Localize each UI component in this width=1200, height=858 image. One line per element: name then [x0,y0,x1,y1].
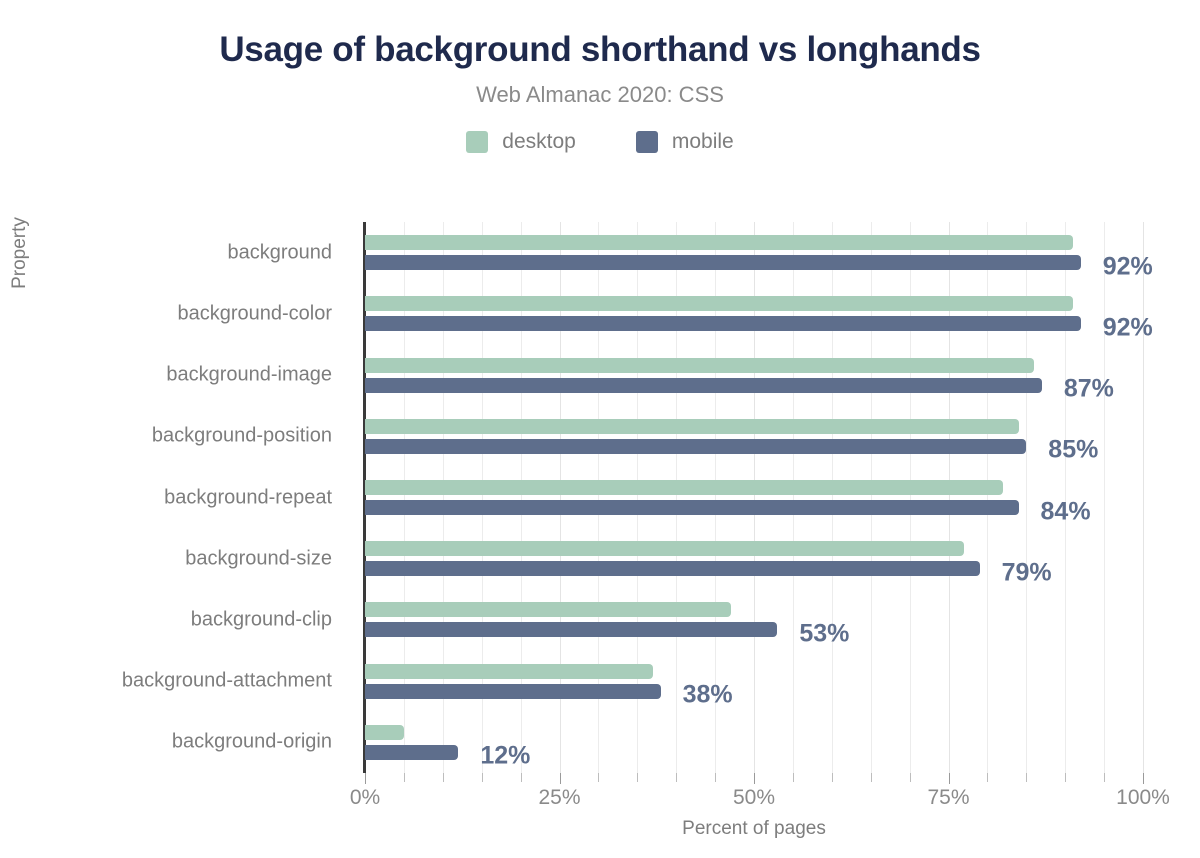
bar-series-container [365,222,1143,773]
bar-mobile-background-attachment[interactable] [365,684,661,699]
bar-mobile-background-size[interactable] [365,561,980,576]
x-tick [715,773,716,782]
x-tick [637,773,638,782]
legend-swatch-mobile [636,131,658,153]
x-tick-label-25%: 25% [538,786,580,810]
value-label-background-position: 85% [1048,436,1098,465]
bar-mobile-background-position[interactable] [365,439,1026,454]
plot-inner: 92%92%87%85%84%79%53%38%12% [365,222,1143,773]
bar-desktop-background-repeat[interactable] [365,480,1003,495]
x-tick-label-75%: 75% [927,786,969,810]
x-tick [482,773,483,782]
x-tick [560,773,561,784]
bar-desktop-background-image[interactable] [365,358,1034,373]
x-tick-label-50%: 50% [733,786,775,810]
x-tick [404,773,405,782]
chart-title: Usage of background shorthand vs longhan… [0,30,1200,70]
x-tick [1143,773,1144,784]
x-tick [832,773,833,782]
x-tick [754,773,755,784]
x-tick-label-0%: 0% [350,786,380,810]
x-axis: 0%25%50%75%100% [365,773,1143,853]
value-label-background-repeat: 84% [1041,497,1091,526]
x-axis-title: Percent of pages [365,818,1143,840]
legend-swatch-desktop [466,131,488,153]
bar-desktop-background-size[interactable] [365,541,964,556]
legend-item-mobile[interactable]: mobile [636,130,734,154]
x-tick [521,773,522,782]
chart-header: Usage of background shorthand vs longhan… [0,0,1200,108]
bar-mobile-background-repeat[interactable] [365,500,1019,515]
value-label-background-clip: 53% [799,619,849,648]
bar-desktop-background-color[interactable] [365,296,1073,311]
x-tick [871,773,872,782]
value-label-background: 92% [1103,252,1153,281]
x-tick [793,773,794,782]
bar-desktop-background-clip[interactable] [365,602,731,617]
bar-desktop-background-position[interactable] [365,419,1019,434]
value-label-background-size: 79% [1002,558,1052,587]
bar-desktop-background[interactable] [365,235,1073,250]
x-tick [443,773,444,782]
bar-desktop-background-attachment[interactable] [365,664,653,679]
x-tick [949,773,950,784]
legend-item-desktop[interactable]: desktop [466,130,576,154]
x-tick [365,773,366,784]
legend-label-desktop: desktop [502,130,576,154]
x-tick [1104,773,1105,782]
x-tick [1026,773,1027,782]
plot-area: 92%92%87%85%84%79%53%38%12% [0,222,1200,782]
x-tick [987,773,988,782]
value-label-background-color: 92% [1103,313,1153,342]
chart-subtitle: Web Almanac 2020: CSS [0,82,1200,108]
bar-desktop-background-origin[interactable] [365,725,404,740]
bar-mobile-background-color[interactable] [365,316,1081,331]
gridline [1143,222,1144,773]
bar-mobile-background-origin[interactable] [365,745,458,760]
x-tick [676,773,677,782]
bar-mobile-background-image[interactable] [365,378,1042,393]
legend-label-mobile: mobile [672,130,734,154]
x-tick [910,773,911,782]
value-label-background-attachment: 38% [683,681,733,710]
bar-mobile-background-clip[interactable] [365,622,777,637]
bar-mobile-background[interactable] [365,255,1081,270]
value-label-background-origin: 12% [480,742,530,771]
value-label-background-image: 87% [1064,375,1114,404]
chart-legend: desktop mobile [0,130,1200,154]
x-tick [1065,773,1066,782]
x-tick [598,773,599,782]
x-tick-label-100%: 100% [1116,786,1170,810]
